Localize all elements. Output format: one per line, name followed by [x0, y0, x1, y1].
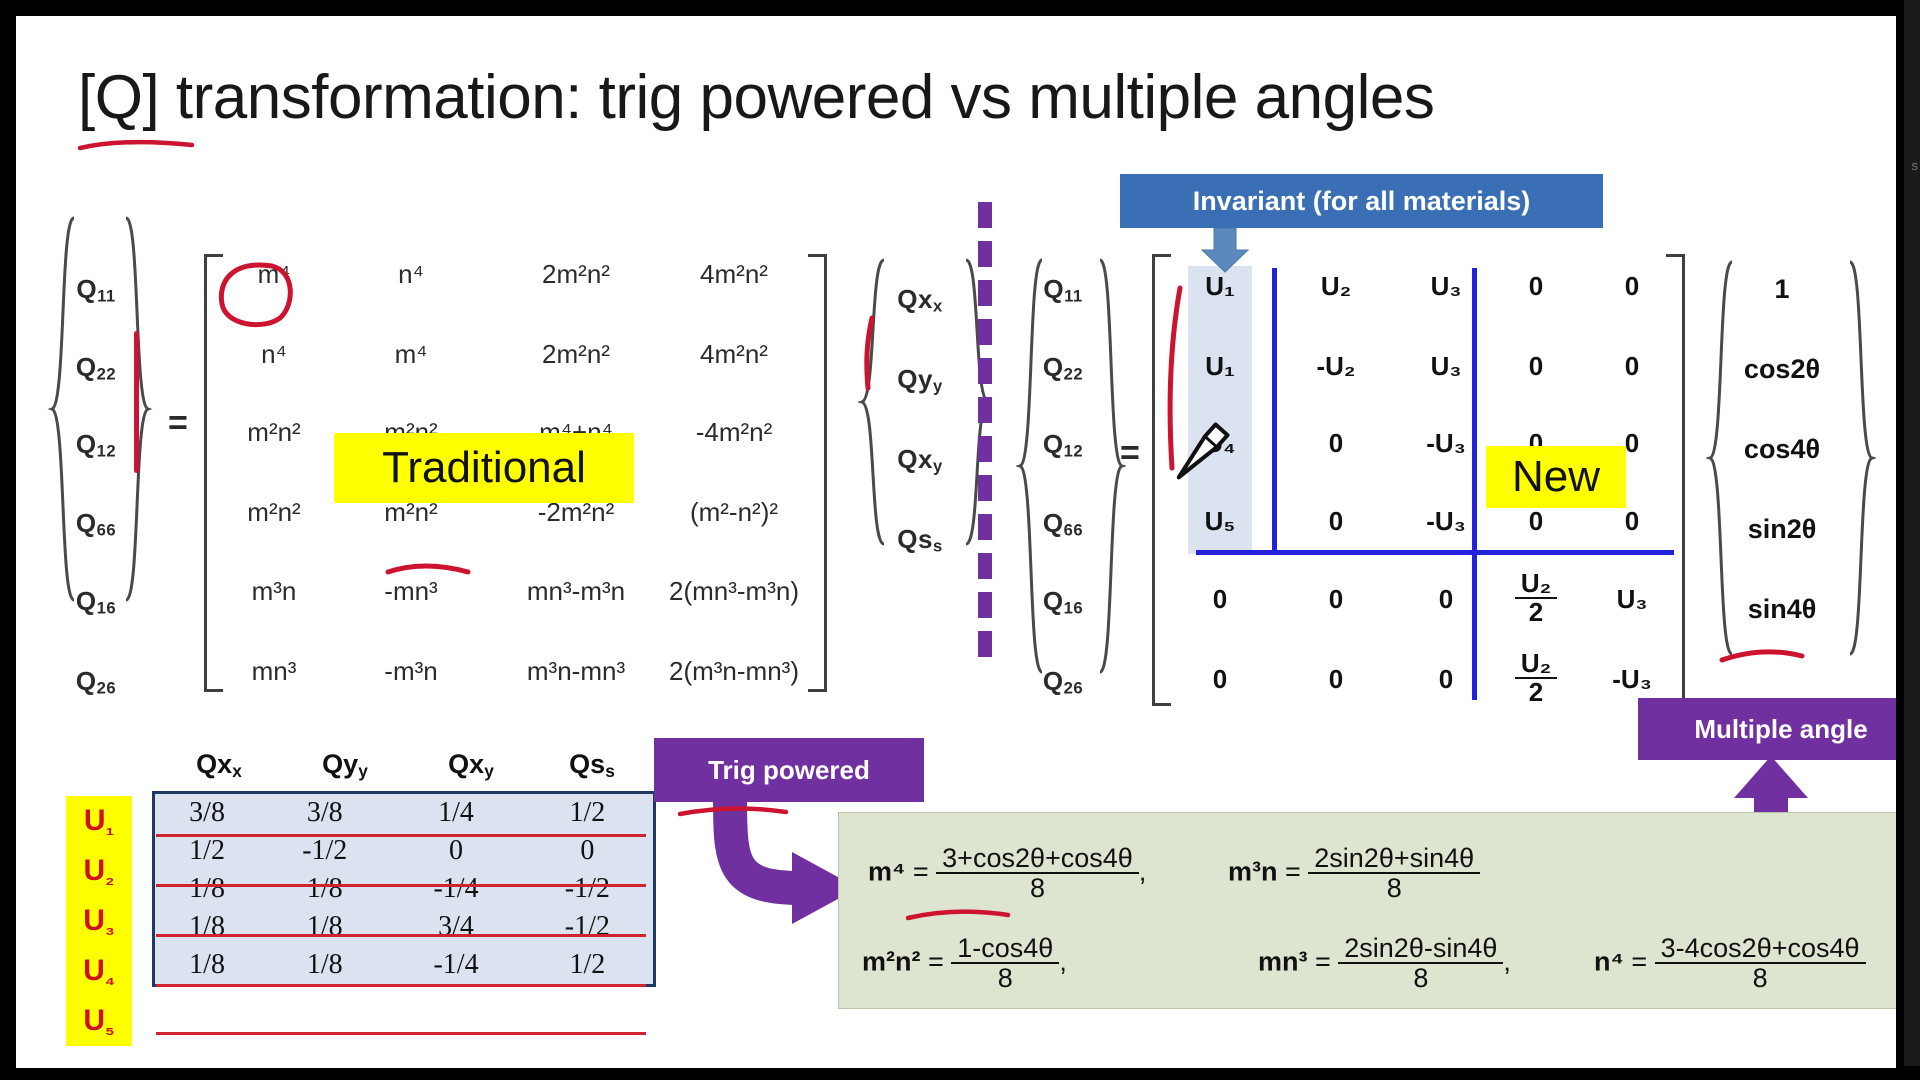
rhs-q-yy: Qyy [872, 364, 968, 397]
table-cell-r4-c3: 3/4 [390, 908, 521, 946]
traditional-cell-r1-c2: n⁴ [346, 259, 476, 290]
formula-2: m³n = 2sin2θ+sin4θ8 [1228, 844, 1480, 903]
multiple-angle-label: Multiple angle [1638, 698, 1896, 760]
u-matrix-cell-r1-c2: U₂ [1288, 271, 1384, 302]
table-row: 1/81/8-1/4-1/2 [155, 870, 653, 908]
table-col-header-qxy: Qxy [408, 749, 534, 782]
u-matrix-cell-r5-c4: U₂2 [1490, 570, 1582, 627]
traditional-cell-r2-c2: m⁴ [346, 339, 476, 370]
u-matrix-cell-r5-c3: 0 [1398, 584, 1494, 615]
red-vertical-annotation-left [134, 331, 139, 473]
lhs-q-26: Q26 [60, 666, 132, 699]
table-cell-r5-c4: 1/2 [522, 946, 653, 984]
table-col-header-qyy: Qyy [282, 749, 408, 782]
table-row: 3/83/81/41/2 [155, 794, 653, 832]
traditional-cell-r4-c1: m²n² [216, 497, 332, 528]
u-matrix-cell-r2-c3: U₃ [1398, 351, 1494, 382]
traditional-cell-r6-c4: 2(m³n-mn³) [634, 656, 834, 687]
red-circle-annotation-m4 [212, 256, 304, 336]
table-cell-r3-c4: -1/2 [522, 870, 653, 908]
u-matrix-cell-r6-c2: 0 [1288, 664, 1384, 695]
table-row-label-u3: U₃ [66, 896, 132, 946]
u-matrix-cell-r6-c4: U₂2 [1490, 650, 1582, 707]
lhs-q-16: Q16 [60, 586, 132, 619]
edge-text-fragment: s [1912, 158, 1919, 173]
u-matrix-cell-r4-c4: 0 [1490, 506, 1582, 537]
table-cell-r2-c3: 0 [390, 832, 521, 870]
u-matrix-cell-r6-c3: 0 [1398, 664, 1494, 695]
table-row-label-u1: U₁ [66, 796, 132, 846]
page-title: [Q] transformation: trig powered vs mult… [78, 62, 1434, 133]
table-cell-r3-c1: 1/8 [155, 870, 259, 908]
u-matrix-cell-r3-c2: 0 [1288, 428, 1384, 459]
angle-brace-close [1846, 258, 1876, 658]
u-matrix-bracket-right [1666, 254, 1685, 706]
rhs2-q-16: Q16 [1024, 586, 1102, 619]
new-label: New [1486, 446, 1626, 508]
table-cell-r3-c3: -1/4 [390, 870, 521, 908]
red-underline-annotation-m2n2 [904, 904, 1014, 928]
u-matrix-cell-r5-c5: U₃ [1592, 584, 1672, 615]
rhs-q-xy: Qxy [872, 444, 968, 477]
rhs2-q-66: Q66 [1024, 508, 1102, 541]
rhs2-q-26: Q26 [1024, 666, 1102, 699]
formula-5: n⁴ = 3-4cos2θ+cos4θ8 [1594, 934, 1866, 993]
table-cell-r4-c2: 1/8 [259, 908, 390, 946]
table-cell-r2-c1: 1/2 [155, 832, 259, 870]
letterbox-left [0, 0, 16, 1080]
blue-divider-horizontal [1196, 550, 1674, 555]
u-matrix-cell-r2-c4: 0 [1490, 351, 1582, 382]
traditional-cell-r6-c1: mn³ [216, 656, 332, 687]
table-red-rule-4 [156, 984, 646, 987]
u-matrix-cell-r5-c2: 0 [1288, 584, 1384, 615]
invariant-label: Invariant (for all materials) [1120, 174, 1603, 228]
rhs2-q-22: Q22 [1024, 352, 1102, 385]
angle-vec-sin2t: sin2θ [1716, 514, 1848, 545]
traditional-label: Traditional [334, 433, 634, 503]
u-matrix-cell-r3-c3: -U₃ [1398, 428, 1494, 459]
table-cell-r4-c4: -1/2 [522, 908, 653, 946]
traditional-cell-r4-c4: (m²-n²)² [634, 497, 834, 528]
traditional-cell-r3-c1: m²n² [216, 417, 332, 448]
angle-vec-sin4t: sin4θ [1716, 594, 1848, 625]
u-matrix-cell-r6-c5: -U₃ [1592, 664, 1672, 695]
left-equals-sign: = [168, 404, 188, 443]
table-red-rule-3 [156, 934, 646, 937]
invariant-down-arrow-icon [1198, 228, 1252, 274]
u-matrix-cell-r1-c4: 0 [1490, 271, 1582, 302]
right-equals-sign: = [1120, 434, 1140, 473]
traditional-cell-r5-c1: m³n [216, 576, 332, 607]
table-cell-r3-c2: 1/8 [259, 870, 390, 908]
traditional-cell-r1-c4: 4m²n² [634, 259, 834, 290]
angle-vec-cos2t: cos2θ [1716, 354, 1848, 385]
table-row-label-u2: U₂ [66, 846, 132, 896]
rhs-q-xx: Qxx [872, 284, 968, 317]
invariants-table: 3/83/81/41/21/2-1/2001/81/8-1/4-1/21/81/… [152, 791, 656, 987]
u-matrix-cell-r4-c5: 0 [1592, 506, 1672, 537]
u-matrix-cell-r4-c3: -U₃ [1398, 506, 1494, 537]
title-underline-annotation [74, 134, 204, 156]
table-cell-r1-c1: 3/8 [155, 794, 259, 832]
letterbox-bottom [0, 1066, 1920, 1080]
u-matrix-cell-r4-c1: U₅ [1178, 506, 1262, 537]
lhs-q-22: Q22 [60, 352, 132, 385]
traditional-cell-r6-c2: -m³n [346, 656, 476, 687]
blue-divider-vertical-1 [1272, 268, 1277, 554]
u-matrix-cell-r5-c1: 0 [1178, 584, 1262, 615]
table-red-rule-1 [156, 834, 646, 837]
lhs-q-11: Q11 [60, 274, 132, 307]
angle-vec-1: 1 [1716, 274, 1848, 305]
u-matrix-cell-r1-c3: U₃ [1398, 271, 1494, 302]
left-q-brace-open [46, 214, 80, 604]
u-matrix-cell-r2-c1: U₁ [1178, 351, 1262, 382]
table-cell-r4-c1: 1/8 [155, 908, 259, 946]
table-cell-r5-c1: 1/8 [155, 946, 259, 984]
table-col-header-qxx: Qxx [156, 749, 282, 782]
u-matrix-cell-r2-c2: -U₂ [1288, 351, 1384, 382]
rhs2-q-12: Q12 [1024, 429, 1102, 462]
table-row-label-u5: U₅ [66, 996, 132, 1046]
u-matrix-cell-r4-c2: 0 [1288, 506, 1384, 537]
formula-1: m⁴ = 3+cos2θ+cos4θ8, [868, 844, 1146, 903]
blue-divider-vertical-2 [1472, 268, 1477, 700]
angle-vec-cos4t: cos4θ [1716, 434, 1848, 465]
letterbox-top [0, 0, 1920, 16]
table-cell-r5-c2: 1/8 [259, 946, 390, 984]
u-matrix-cell-r2-c5: 0 [1592, 351, 1672, 382]
red-underline-annotation-row4 [384, 556, 476, 584]
table-cell-r2-c4: 0 [522, 832, 653, 870]
traditional-matrix-bracket-right [808, 254, 827, 692]
table-cell-r5-c3: -1/4 [390, 946, 521, 984]
lhs-q-66: Q66 [60, 508, 132, 541]
table-col-header-qss: Qss [534, 749, 650, 782]
rhs2-q-11: Q11 [1024, 274, 1102, 307]
traditional-cell-r5-c4: 2(mn³-m³n) [634, 576, 834, 607]
formula-4: mn³ = 2sin2θ-sin4θ8, [1258, 934, 1511, 993]
table-row: 1/2-1/200 [155, 832, 653, 870]
red-underline-annotation-angle [1718, 644, 1808, 670]
table-cell-r1-c2: 3/8 [259, 794, 390, 832]
traditional-cell-r3-c4: -4m²n² [634, 417, 834, 448]
u-matrix-cell-r1-c1: U₁ [1178, 271, 1262, 302]
table-row-label-u4: U₄ [66, 946, 132, 996]
table-red-rule-2 [156, 884, 646, 887]
pencil-cursor-icon[interactable] [1162, 414, 1234, 492]
red-stroke-annotation-qyy [862, 314, 880, 394]
formula-3: m²n² = 1-cos4θ8, [862, 934, 1067, 993]
table-cell-r2-c2: -1/2 [259, 832, 390, 870]
red-underline-annotation-trig [676, 800, 792, 824]
table-row: 1/81/8-1/41/2 [155, 946, 653, 984]
section-divider-dashed [978, 202, 992, 670]
table-cell-r1-c3: 1/4 [390, 794, 521, 832]
slide-canvas: [Q] transformation: trig powered vs mult… [16, 16, 1896, 1068]
traditional-cell-r2-c1: n⁴ [216, 339, 332, 370]
u-matrix-cell-r6-c1: 0 [1178, 664, 1262, 695]
lhs-q-12: Q12 [60, 429, 132, 462]
traditional-cell-r2-c4: 4m²n² [634, 339, 834, 370]
table-cell-r1-c4: 1/2 [522, 794, 653, 832]
table-row: 1/81/83/4-1/2 [155, 908, 653, 946]
u-matrix-cell-r1-c5: 0 [1592, 271, 1672, 302]
table-red-rule-5 [156, 1032, 646, 1035]
rhs-q-ss: Qss [872, 524, 968, 557]
